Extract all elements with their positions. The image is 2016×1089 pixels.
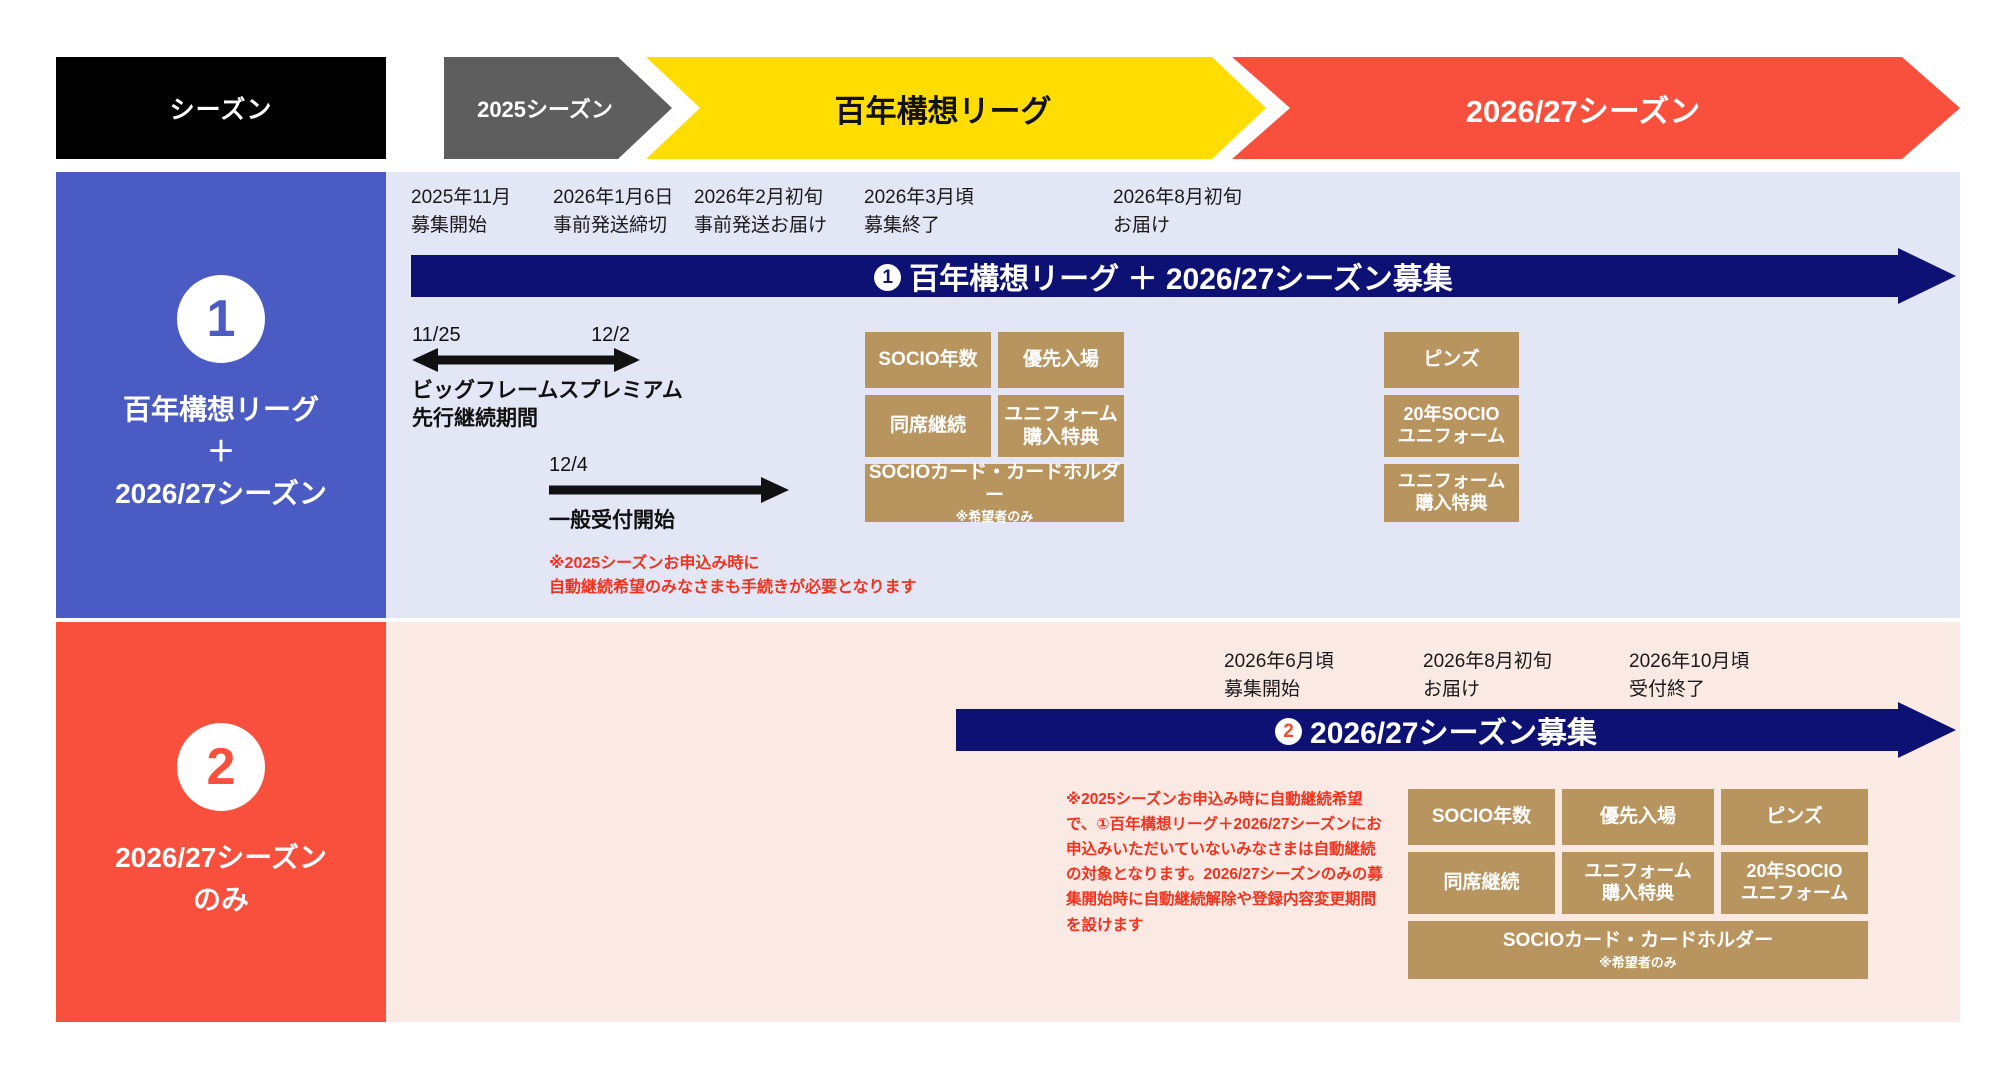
mini-arrow-date-start: 12/4 (549, 454, 588, 477)
benefit-row: SOCIO年数 優先入場 ピンズ (1408, 789, 1868, 845)
benefit-row: ピンズ (1384, 332, 1519, 388)
plan-1-side-panel: 1 百年構想リーグ ＋ 2026/27シーズン (56, 172, 386, 618)
header-chevron-2026-27: 2026/27シーズン (1232, 57, 1960, 159)
benefit-row: 20年SOCIO ユニフォーム (1384, 395, 1519, 457)
plan-2-benefit-group: SOCIO年数 優先入場 ピンズ 同席継続 ユニフォーム 購入特典 20年SOC… (1408, 789, 1868, 979)
benefit-row: SOCIOカード・カードホルダー ※希望者のみ (865, 464, 1124, 522)
date-marker: 2026年1月6日 事前発送締切 (553, 184, 673, 239)
general-reception-start-label: 一般受付開始 (549, 507, 789, 535)
date-marker: 2025年11月 募集開始 (411, 184, 511, 239)
plan-1-red-note: ※2025シーズンお申込み時に 自動継続希望のみなさまも手続きが必要となります (549, 552, 917, 600)
date-marker: 2026年6月頃 募集開始 (1224, 648, 1334, 703)
plan-2-body: 2026年6月頃 募集開始 2026年8月初旬 お届け 2026年10月頃 受付… (386, 622, 1960, 1022)
header-chevron-hyakunen-label: 百年構想リーグ (646, 86, 1266, 131)
date-marker: 2026年8月初旬 お届け (1423, 648, 1552, 703)
general-reception-start-block: 12/4 一般受付開始 (549, 454, 789, 535)
benefit-box: SOCIO年数 (865, 332, 991, 388)
benefit-box-sublabel: ※希望者のみ (956, 509, 1034, 525)
header-chevron-2025: 2025シーズン (444, 57, 672, 159)
infographic-canvas: シーズン 2025シーズン 百年構想リーグ 2026/27シーズン 1 百年構想… (0, 0, 2016, 1089)
date-marker: 2026年8月初旬 お届け (1113, 184, 1242, 239)
plan-1-number-badge: 1 (177, 275, 265, 363)
date-marker: 2026年3月頃 募集終了 (864, 184, 974, 239)
benefit-box: ユニフォーム 購入特典 (1384, 464, 1519, 522)
plan-2-red-note: ※2025シーズンお申込み時に自動継続希望で、①百年構想リーグ＋2026/27シ… (1066, 787, 1386, 938)
benefit-box-socio-card: SOCIOカード・カードホルダー ※希望者のみ (865, 464, 1124, 522)
header-chevron-2026-label: 2026/27シーズン (1232, 86, 1960, 131)
benefit-box-sublabel: ※希望者のみ (1599, 955, 1677, 971)
benefit-box-socio-card: SOCIOカード・カードホルダー ※希望者のみ (1408, 921, 1868, 979)
benefit-box: ユニフォーム 購入特典 (998, 395, 1124, 457)
benefit-box: 優先入場 (998, 332, 1124, 388)
mini-arrow-date-start: 11/25 (412, 324, 461, 347)
header-season-box: シーズン (56, 57, 386, 159)
benefit-box: ピンズ (1721, 789, 1868, 845)
benefit-row: 同席継続 ユニフォーム 購入特典 20年SOCIO ユニフォーム (1408, 852, 1868, 914)
header-season-label: シーズン (170, 90, 273, 126)
benefit-box: SOCIO年数 (1408, 789, 1555, 845)
benefit-box-label: SOCIOカード・カードホルダー (1503, 929, 1773, 952)
plan-2-number-badge: 2 (177, 723, 265, 811)
benefit-box: ユニフォーム 購入特典 (1562, 852, 1714, 914)
date-marker: 2026年10月頃 受付終了 (1629, 648, 1749, 703)
big-frame-premium-label: ビッグフレームスプレミアム 先行継続期間 (412, 377, 683, 434)
arrow-badge-2: 2 (1275, 718, 1302, 745)
benefit-row: 同席継続 ユニフォーム 購入特典 (865, 395, 1124, 457)
plan-row-2: 2 2026/27シーズン のみ 2026年6月頃 募集開始 2026年8月初旬… (56, 622, 1960, 1022)
plan-row-1: 1 百年構想リーグ ＋ 2026/27シーズン 2025年11月 募集開始 20… (56, 172, 1960, 618)
benefit-box: ピンズ (1384, 332, 1519, 388)
plan-1-title: 百年構想リーグ ＋ 2026/27シーズン (115, 389, 327, 515)
plan-2-main-arrow: 2 2026/27シーズン募集 (956, 702, 1956, 758)
benefit-box: 20年SOCIO ユニフォーム (1721, 852, 1868, 914)
plan-1-main-arrow: 1 百年構想リーグ ＋ 2026/27シーズン募集 (411, 248, 1956, 304)
plan-2-title: 2026/27シーズン のみ (115, 837, 327, 921)
date-marker: 2026年2月初旬 事前発送お届け (694, 184, 827, 239)
benefit-box: 同席継続 (865, 395, 991, 457)
arrow-badge-1: 1 (874, 264, 901, 291)
right-arrow-icon (549, 477, 789, 503)
benefit-row: SOCIO年数 優先入場 (865, 332, 1124, 388)
benefit-box: 優先入場 (1562, 789, 1714, 845)
big-frame-premium-period-block: 11/25 12/2 ビッグフレームスプレミアム 先行継続期間 (412, 324, 683, 434)
header-chevron-hyakunen-league: 百年構想リーグ (646, 57, 1266, 159)
benefit-box: 20年SOCIO ユニフォーム (1384, 395, 1519, 457)
plan-1-benefit-group-a: SOCIO年数 優先入場 同席継続 ユニフォーム 購入特典 SOCIOカード・カ… (865, 332, 1124, 522)
header-chevron-2025-label: 2025シーズン (444, 92, 672, 124)
plan-2-arrow-label: 2026/27シーズン募集 (1310, 708, 1597, 752)
plan-1-body: 2025年11月 募集開始 2026年1月6日 事前発送締切 2026年2月初旬… (386, 172, 1960, 618)
mini-arrow-date-end: 12/2 (591, 324, 630, 347)
plan-1-benefit-group-b: ピンズ 20年SOCIO ユニフォーム ユニフォーム 購入特典 (1384, 332, 1519, 522)
plan-1-arrow-label: 百年構想リーグ ＋ 2026/27シーズン募集 (909, 254, 1453, 298)
plan-2-side-panel: 2 2026/27シーズン のみ (56, 622, 386, 1022)
double-arrow-icon (412, 347, 640, 373)
benefit-box-label: SOCIOカード・カードホルダー (865, 461, 1124, 507)
benefit-row: ユニフォーム 購入特典 (1384, 464, 1519, 522)
benefit-row: SOCIOカード・カードホルダー ※希望者のみ (1408, 921, 1868, 979)
benefit-box: 同席継続 (1408, 852, 1555, 914)
